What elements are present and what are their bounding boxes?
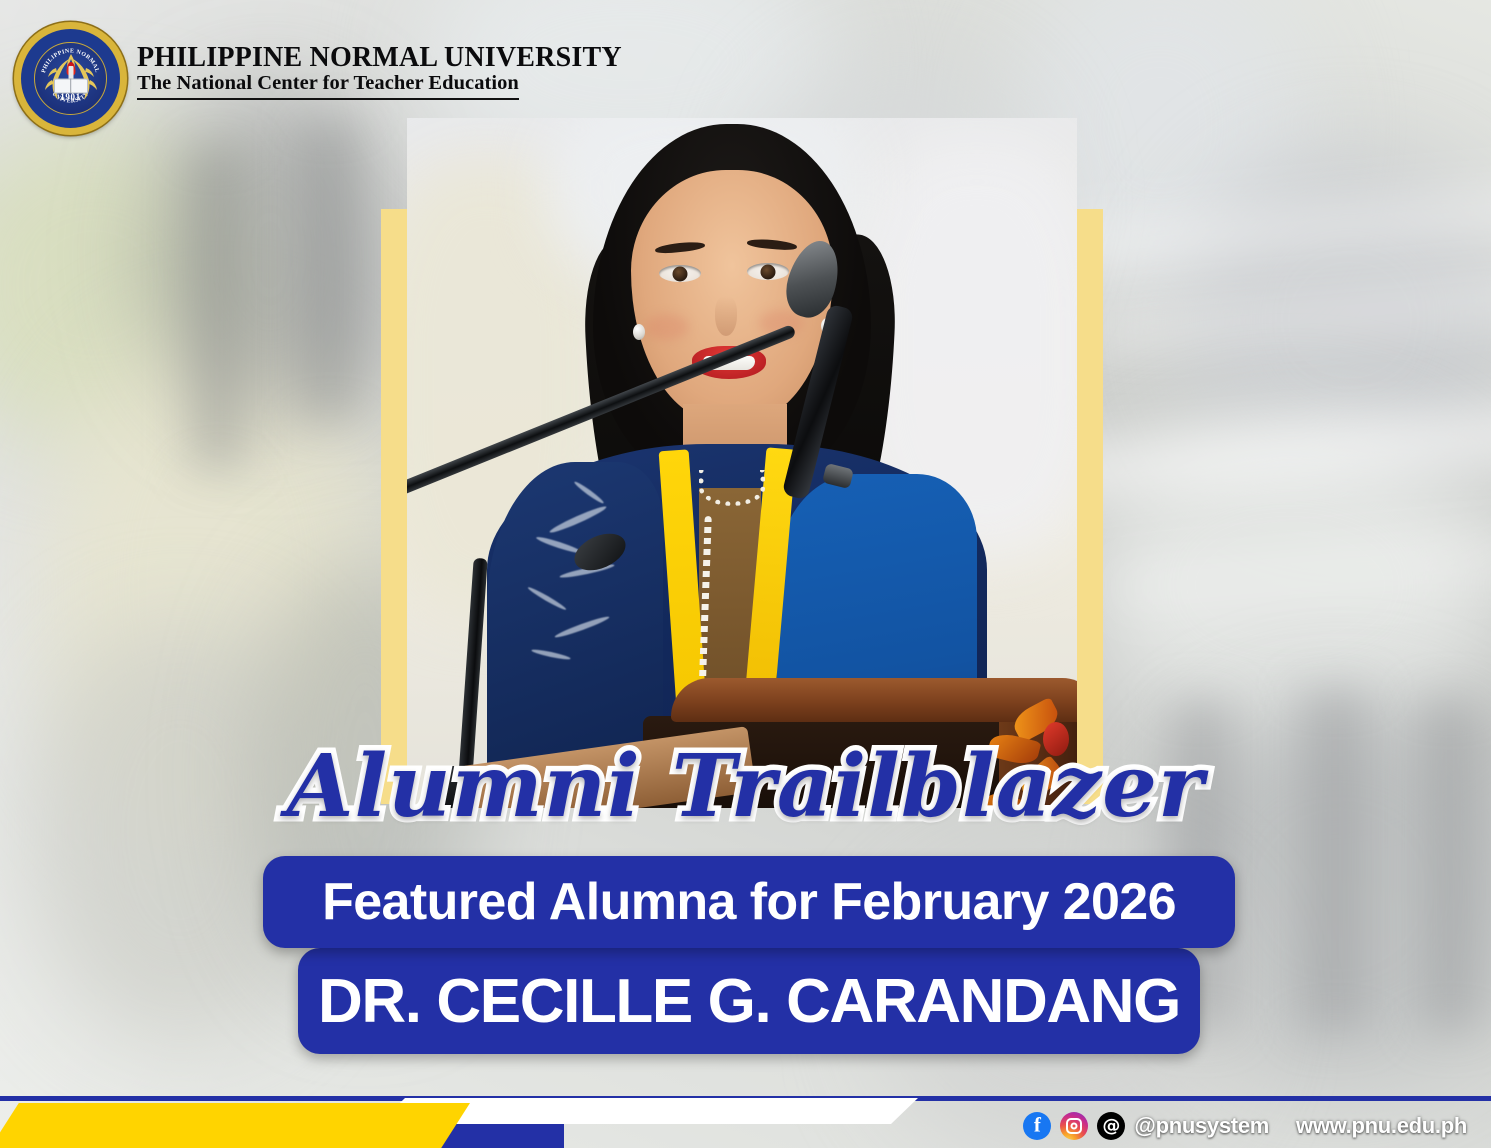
footer-yellow-diagonal (0, 1103, 470, 1148)
subtitle-band: Featured Alumna for February 2026 (263, 856, 1235, 948)
university-wordmark: PHILIPPINE NORMAL UNIVERSITY The Nationa… (137, 43, 622, 100)
threads-icon[interactable] (1097, 1112, 1125, 1140)
social-handle[interactable]: @pnusystem (1134, 1113, 1269, 1139)
pearl-necklace (699, 470, 765, 506)
alumna-name: DR. CECILLE G. CARANDANG (318, 966, 1180, 1037)
wordmark-line-1: PHILIPPINE NORMAL UNIVERSITY (137, 43, 622, 72)
nose (715, 296, 737, 336)
eye (747, 263, 789, 280)
background-column (1300, 690, 1370, 1030)
seal-year: 1901 (35, 92, 106, 102)
featured-alumna-photo (407, 118, 1077, 808)
earring (633, 324, 645, 340)
background-column (190, 150, 244, 470)
cheek-blush (645, 314, 689, 340)
open-book-icon (54, 78, 88, 93)
facebook-icon[interactable] (1023, 1112, 1051, 1140)
alumna-name-band: DR. CECILLE G. CARANDANG (298, 948, 1200, 1054)
subtitle-text: Featured Alumna for February 2026 (322, 872, 1176, 932)
poster-canvas: PHILIPPINE NORMAL UNIVERSITY (0, 0, 1491, 1148)
website-url[interactable]: www.pnu.edu.ph (1296, 1113, 1467, 1139)
eye (659, 265, 701, 282)
instagram-lens (1071, 1123, 1078, 1130)
background-column (300, 120, 360, 420)
poster-footer: @pnusystem www.pnu.edu.ph (0, 1078, 1491, 1148)
instagram-icon[interactable] (1060, 1112, 1088, 1140)
pnu-seal-icon: PHILIPPINE NORMAL UNIVERSITY (14, 22, 127, 135)
wordmark-line-2: The National Center for Teacher Educatio… (137, 72, 519, 100)
seal-disc: PHILIPPINE NORMAL UNIVERSITY (14, 22, 127, 135)
seal-inner-disc: PHILIPPINE NORMAL UNIVERSITY (34, 42, 107, 115)
social-links: @pnusystem www.pnu.edu.ph (1023, 1112, 1467, 1140)
script-title: Alumni Trailblazer (0, 744, 1491, 830)
